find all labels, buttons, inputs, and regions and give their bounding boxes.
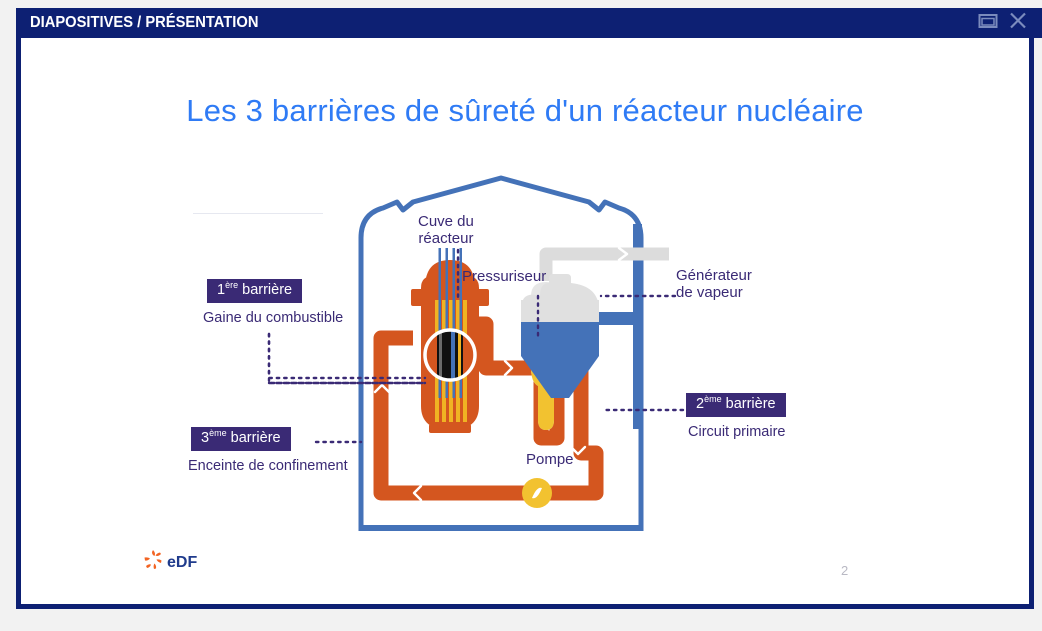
slide-frame: Les 3 barrières de sûreté d'un réacteur … (16, 38, 1034, 609)
fuel-cladding-magnifier (425, 330, 475, 380)
slide-canvas: Les 3 barrières de sûreté d'un réacteur … (21, 38, 1029, 604)
page-number: 2 (841, 563, 848, 578)
label-pump: Pompe (526, 452, 574, 469)
window-controls (978, 11, 1028, 36)
barrier-2-badge: 2ème barrière (686, 393, 786, 417)
barrier-1-badge-suffix: barrière (242, 282, 292, 298)
barrier-2-label: Circuit primaire (688, 424, 786, 440)
edf-sun-icon (145, 550, 162, 569)
label-steam-generator-line2: de vapeur (676, 284, 752, 301)
barrier-1-badge: 1ère barrière (207, 279, 302, 303)
barrier-2-badge-suffix: barrière (726, 396, 776, 412)
label-steam-generator-line1: Générateur (676, 267, 752, 284)
label-reactor-vessel: Cuve du réacteur (418, 214, 474, 248)
label-pressurizer: Pressuriseur (462, 269, 546, 286)
barrier-1-badge-sup: ère (225, 280, 238, 290)
close-icon[interactable] (1008, 11, 1028, 36)
barrier-3-label: Enceinte de confinement (188, 458, 348, 474)
pump[interactable] (522, 478, 552, 508)
barrier-3-badge-sup: ème (209, 428, 227, 438)
restore-icon[interactable] (978, 12, 998, 34)
application-window: DIAPOSITIVES / PRÉSENTATION Les 3 barriè… (0, 0, 1042, 631)
barrier-2-badge-sup: ème (704, 394, 722, 404)
label-reactor-vessel-line1: Cuve du (418, 214, 474, 231)
window-title: DIAPOSITIVES / PRÉSENTATION (30, 14, 258, 32)
reactor-diagram (21, 38, 1039, 609)
barrier-3-badge-suffix: barrière (231, 430, 281, 446)
label-reactor-vessel-line2: réacteur (418, 231, 474, 248)
barrier-3-badge-prefix: 3 (201, 430, 209, 446)
barrier-1-label: Gaine du combustible (203, 310, 343, 326)
edf-logo: eDF (141, 546, 213, 576)
label-steam-generator: Générateur de vapeur (676, 267, 752, 302)
barrier-2-badge-prefix: 2 (696, 396, 704, 412)
barrier-1-badge-prefix: 1 (217, 282, 225, 298)
window-title-bar: DIAPOSITIVES / PRÉSENTATION (16, 8, 1042, 38)
barrier-3-badge: 3ème barrière (191, 427, 291, 451)
edf-logo-text: eDF (167, 554, 197, 571)
